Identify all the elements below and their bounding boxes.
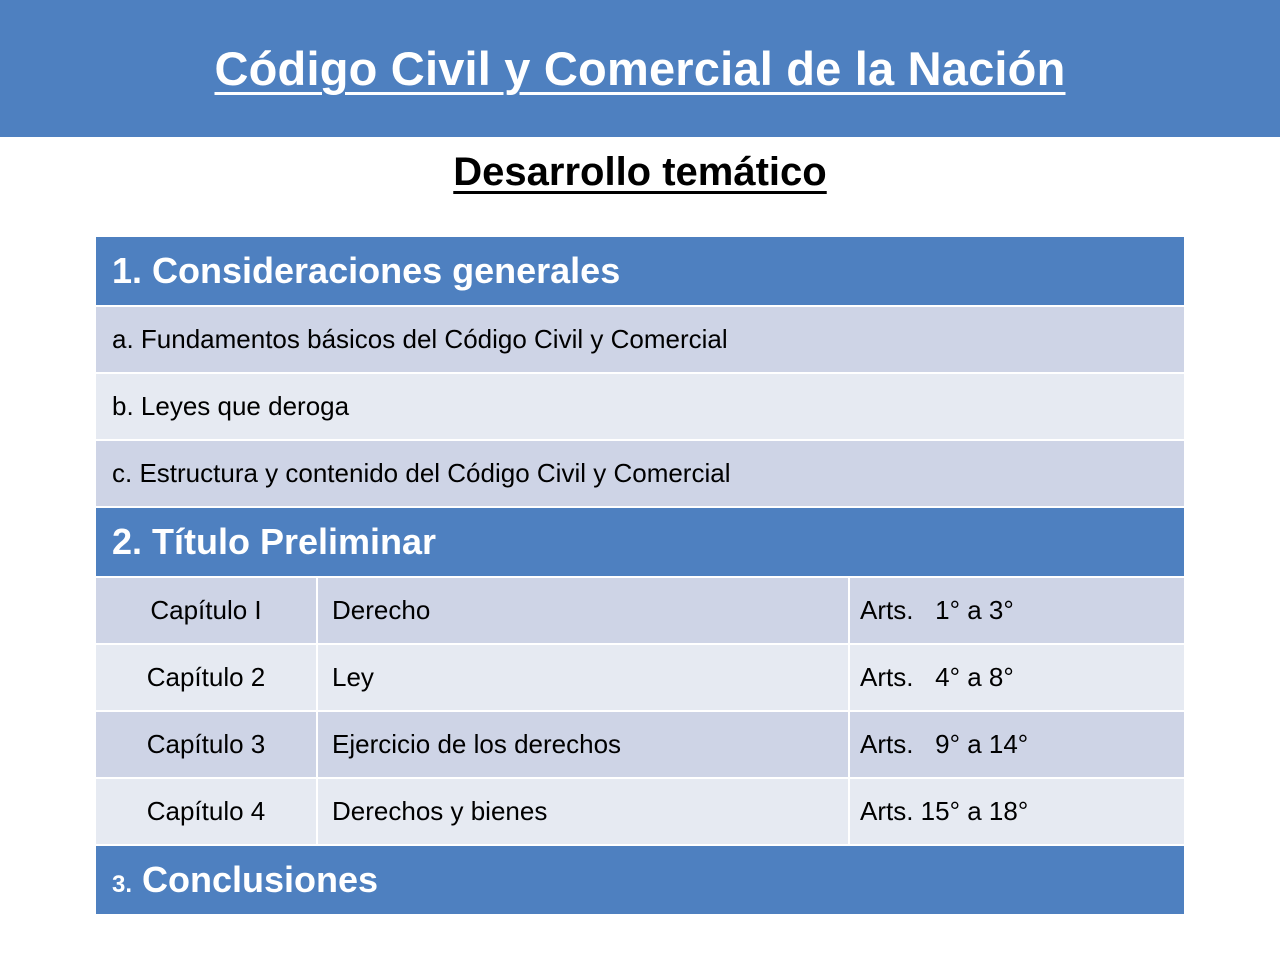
section-header-row-2: 2. Título Preliminar [96, 508, 1184, 576]
agenda-item-row: a. Fundamentos básicos del Código Civil … [96, 307, 1184, 372]
chapter-number-cell: Capítulo I [96, 578, 318, 643]
section-2-heading: 2. Título Preliminar [96, 524, 436, 560]
page-title: Código Civil y Comercial de la Nación [215, 41, 1066, 96]
agenda-item-row: b. Leyes que deroga [96, 374, 1184, 439]
chapter-row: Capítulo 4 Derechos y bienes Arts. 15° a… [96, 779, 1184, 844]
chapter-row: Capítulo I Derecho Arts. 1° a 3° [96, 578, 1184, 643]
section-3-heading: 3. Conclusiones [96, 862, 378, 898]
section-header-row-3: 3. Conclusiones [96, 846, 1184, 914]
slide-subtitle: Desarrollo temático [453, 150, 826, 195]
chapter-number-cell: Capítulo 3 [96, 712, 318, 777]
agenda-item-label: c. Estructura y contenido del Código Civ… [96, 458, 730, 489]
chapter-articles-cell: Arts. 9° a 14° [850, 712, 1184, 777]
section-3-number: 3. [112, 871, 132, 898]
agenda-table: 1. Consideraciones generales a. Fundamen… [96, 237, 1184, 914]
agenda-item-row: c. Estructura y contenido del Código Civ… [96, 441, 1184, 506]
agenda-item-label: b. Leyes que deroga [96, 391, 349, 422]
chapter-topic-cell: Ley [318, 645, 850, 710]
section-3-heading-text: Conclusiones [142, 859, 378, 900]
chapter-number-cell: Capítulo 4 [96, 779, 318, 844]
chapter-topic-cell: Ejercicio de los derechos [318, 712, 850, 777]
chapter-articles-cell: Arts. 15° a 18° [850, 779, 1184, 844]
chapter-row: Capítulo 3 Ejercicio de los derechos Art… [96, 712, 1184, 777]
chapter-topic-cell: Derechos y bienes [318, 779, 850, 844]
section-header-row-1: 1. Consideraciones generales [96, 237, 1184, 305]
slide-subtitle-container: Desarrollo temático [0, 150, 1280, 195]
chapter-articles-cell: Arts. 4° a 8° [850, 645, 1184, 710]
chapter-row: Capítulo 2 Ley Arts. 4° a 8° [96, 645, 1184, 710]
section-1-heading: 1. Consideraciones generales [96, 253, 620, 289]
chapter-articles-cell: Arts. 1° a 3° [850, 578, 1184, 643]
agenda-item-label: a. Fundamentos básicos del Código Civil … [96, 324, 728, 355]
chapter-number-cell: Capítulo 2 [96, 645, 318, 710]
slide-title-band: Código Civil y Comercial de la Nación [0, 0, 1280, 137]
chapter-topic-cell: Derecho [318, 578, 850, 643]
